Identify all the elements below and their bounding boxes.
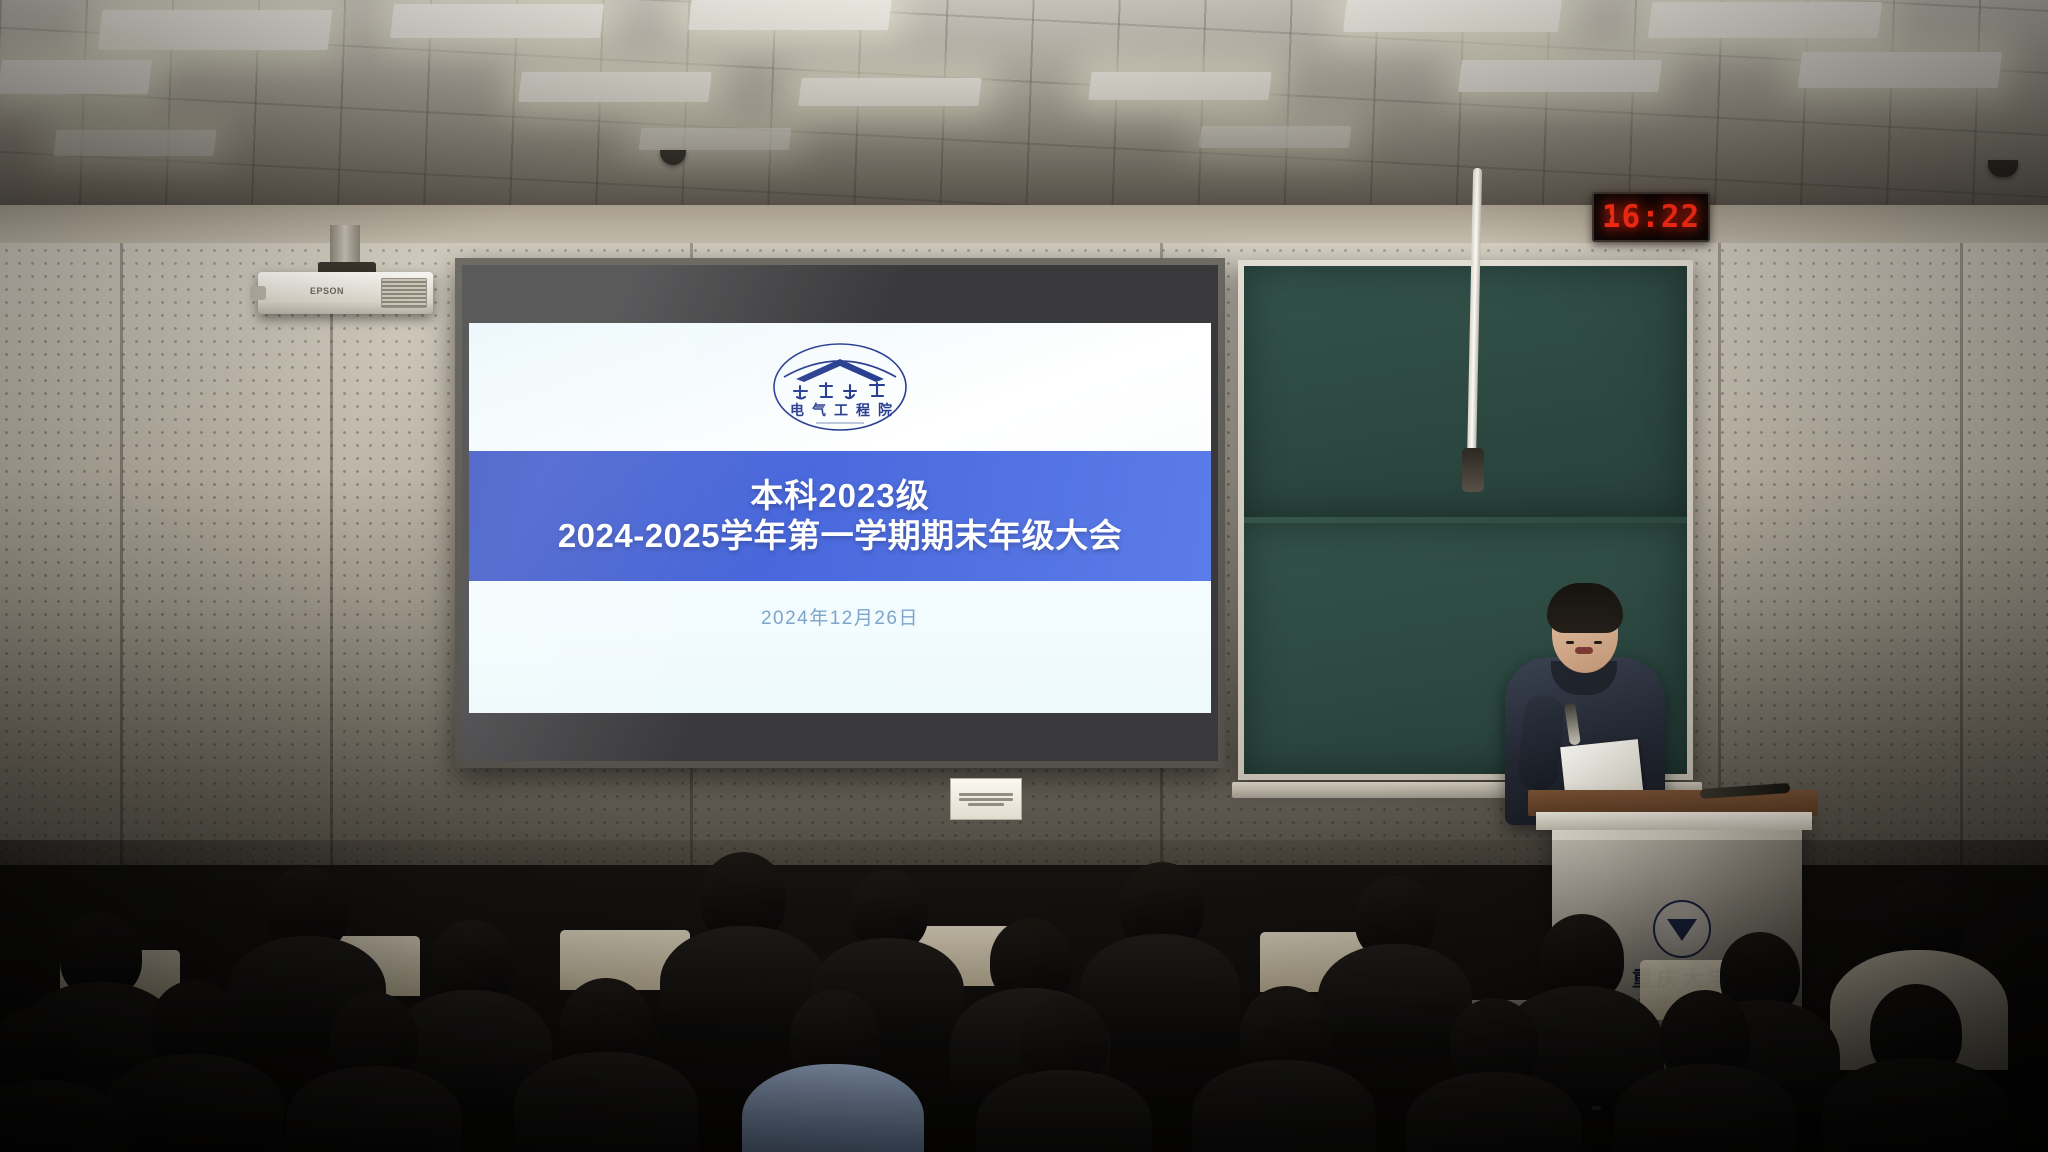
projection-screen: 电气工 程院 本科2023级 2024-2025学年第一学期期末年级大会 202… [462,265,1218,761]
slide-header-area: 电气工 程院 [469,323,1211,451]
presenter-eye-right [1594,641,1602,644]
svg-text:电: 电 [790,402,804,419]
projector-brand-label: EPSON [310,286,344,296]
audience-area [0,840,2048,1152]
projector-lens [250,286,266,300]
presentation-slide: 电气工 程院 本科2023级 2024-2025学年第一学期期末年级大会 202… [469,323,1211,713]
presenter-eye-left [1566,641,1574,644]
slide-title-line-1: 本科2023级 [750,477,929,515]
clock-time-display: 16:22 [1602,199,1700,235]
ceiling [0,0,2048,215]
lecture-hall-scene: EPSON 16:22 [0,0,2048,1152]
hanging-microphone-head [1462,448,1484,492]
audience-shoulders [1822,1058,2010,1152]
ceiling-projector: EPSON [258,272,433,314]
wall-upper-band [0,205,2048,243]
audience-shoulders [1192,1060,1376,1152]
svg-text:工: 工 [834,403,848,419]
presenter [1505,575,1665,825]
school-logo-icon: 电气工 程院 [766,339,914,435]
audience-shoulders [1318,944,1472,1054]
presenter-hair [1547,583,1623,633]
clock-indicator-led [1606,214,1611,219]
svg-text:气: 气 [811,402,826,419]
audience-shoulders [514,1052,698,1152]
slide-title-band: 本科2023级 2024-2025学年第一学期期末年级大会 [469,451,1211,581]
slide-date: 2024年12月26日 [761,603,919,630]
sign-text-line [968,803,1004,806]
ceiling-shading [0,0,2048,215]
svg-text:程: 程 [856,403,870,419]
presenter-mouth [1575,647,1593,654]
slide-footer-area: 2024年12月26日 [469,581,1211,713]
projection-screen-frame: 电气工 程院 本科2023级 2024-2025学年第一学期期末年级大会 202… [455,258,1225,768]
svg-text:院: 院 [878,402,892,419]
wall-notice-sign [950,778,1022,820]
digital-wall-clock: 16:22 [1592,192,1710,242]
projector-vent [381,278,427,308]
slide-title-line-2: 2024-2025学年第一学期期末年级大会 [558,517,1122,555]
audience-shoulders [104,1054,284,1152]
sign-text-line [959,798,1014,801]
sign-text-line [959,793,1014,796]
podium-desk-surface [1536,812,1812,830]
